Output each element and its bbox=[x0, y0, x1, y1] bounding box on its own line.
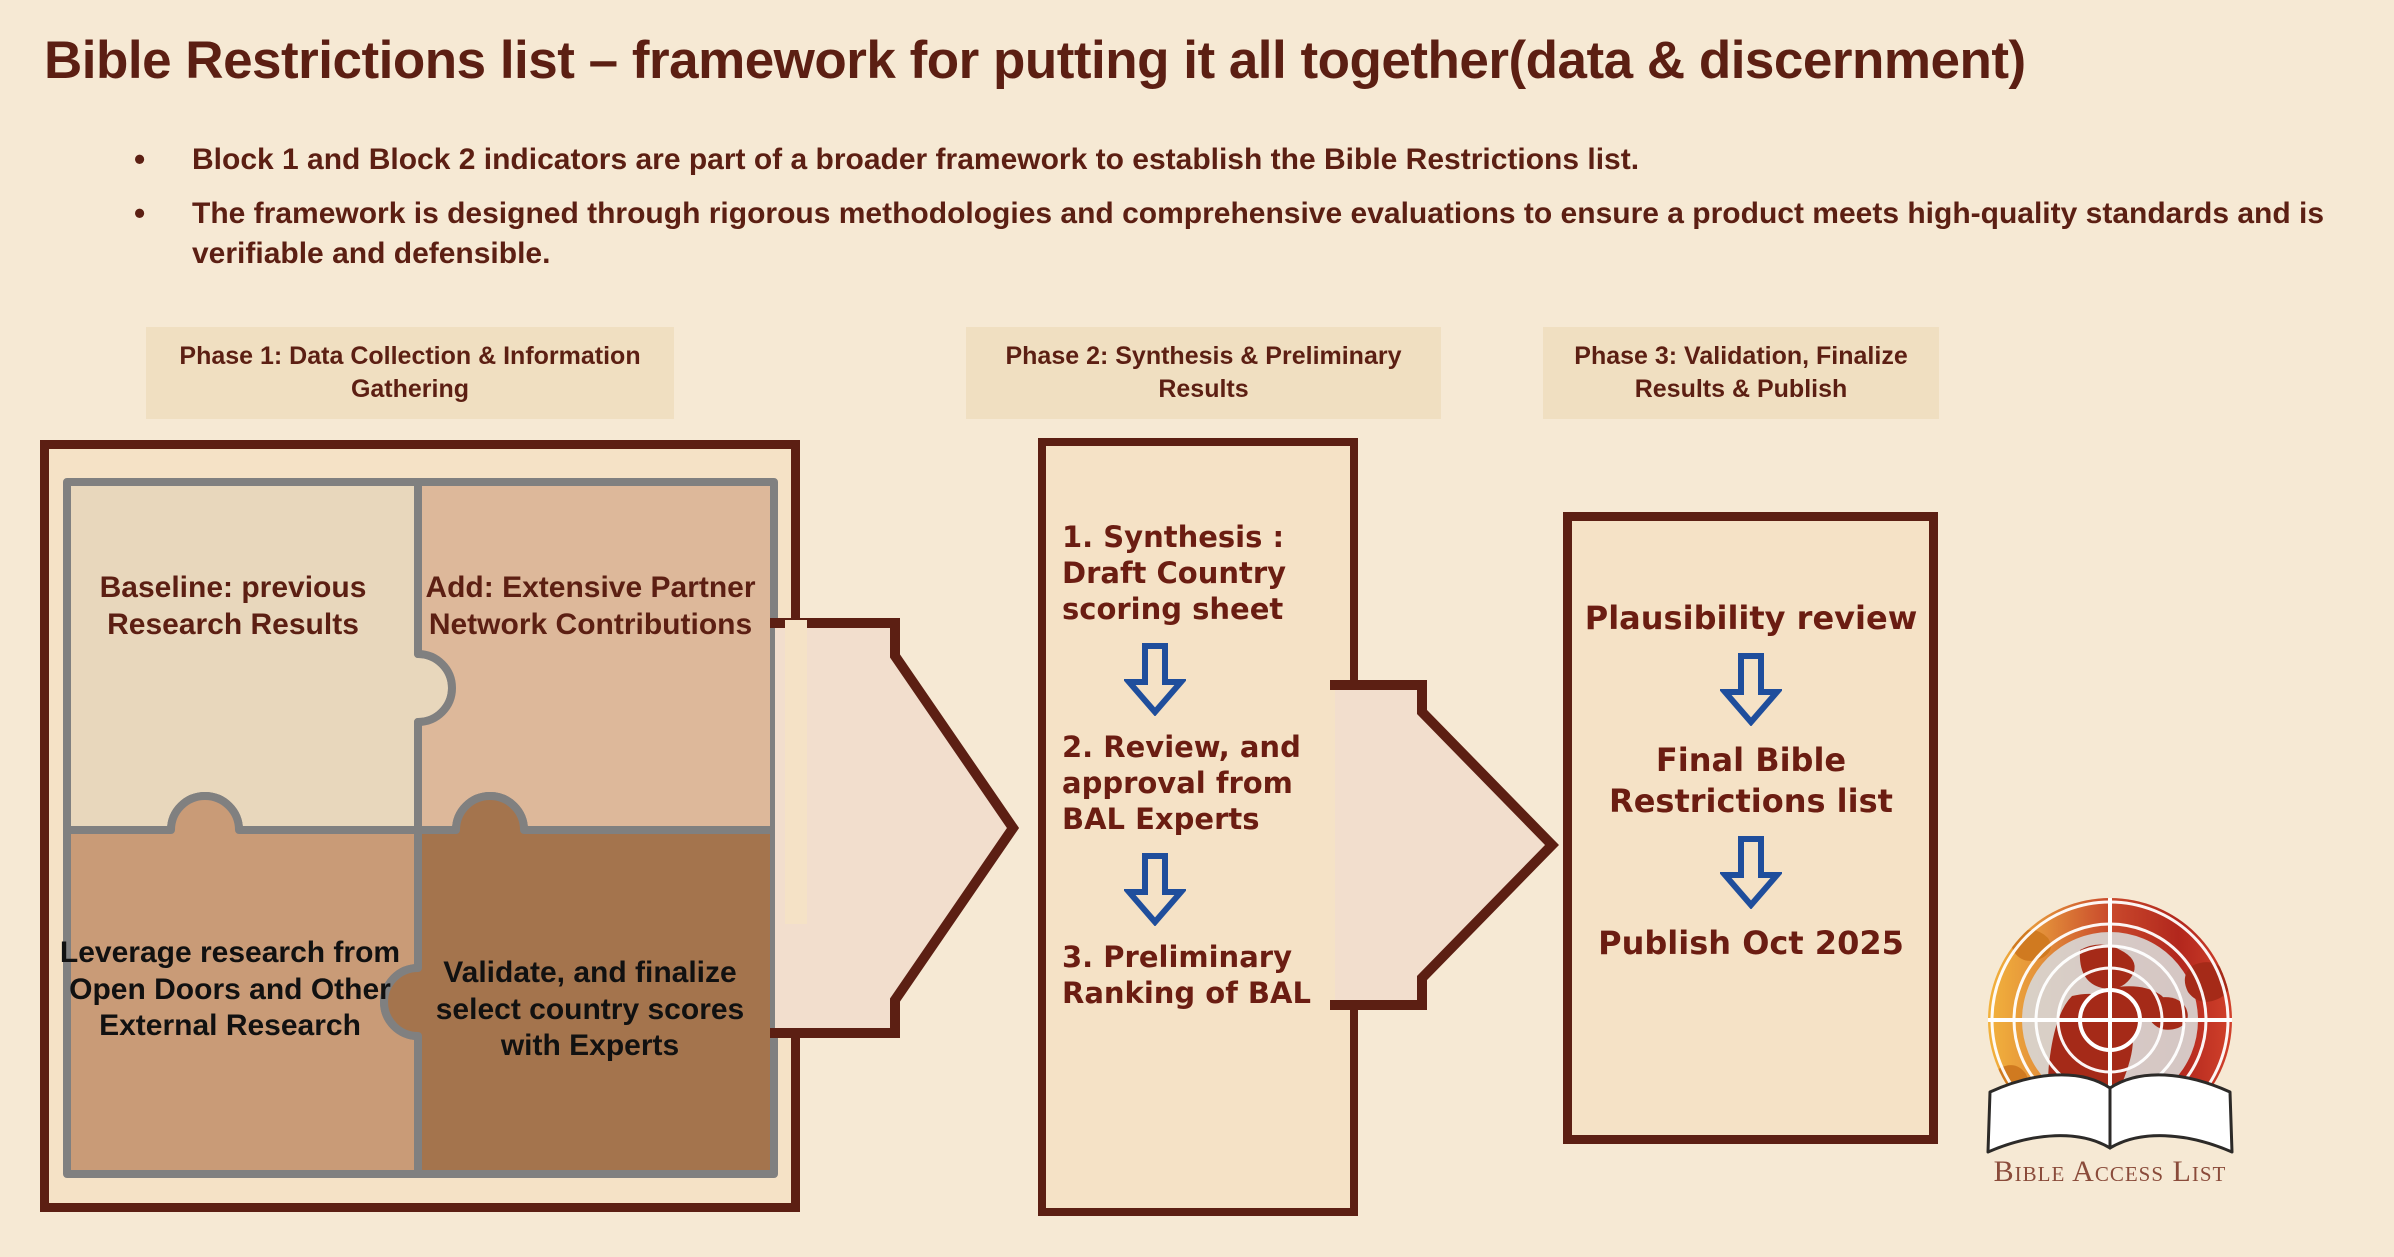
right-block-arrow-icon bbox=[770, 618, 1020, 1038]
list-item: • Block 1 and Block 2 indicators are par… bbox=[118, 140, 2348, 180]
phase-3-step-1: Plausibility review bbox=[1575, 598, 1927, 638]
phase-3-steps: Plausibility review Final Bible Restrict… bbox=[1575, 598, 1927, 963]
puzzle-piece-bottom-right bbox=[384, 796, 774, 1174]
phase-3-step-2: Final Bible Restrictions list bbox=[1575, 740, 1927, 821]
phase-3-header: Phase 3: Validation, Finalize Results & … bbox=[1543, 327, 1939, 419]
down-arrow-icon bbox=[1575, 835, 1927, 909]
phase-1-header: Phase 1: Data Collection & Information G… bbox=[146, 327, 674, 419]
bullet-text: The framework is designed through rigoro… bbox=[192, 197, 2324, 270]
right-block-arrow-icon bbox=[1330, 680, 1560, 1010]
arrow-shaft-joiner bbox=[785, 620, 807, 924]
down-arrow-icon bbox=[1062, 852, 1332, 926]
phase-2-steps: 1. Synthesis : Draft Country scoring she… bbox=[1062, 520, 1332, 1012]
puzzle-graphic bbox=[63, 478, 778, 1178]
page-title: Bible Restrictions list – framework for … bbox=[44, 30, 2364, 91]
slide-canvas: Bible Restrictions list – framework for … bbox=[0, 0, 2394, 1257]
bullet-list: • Block 1 and Block 2 indicators are par… bbox=[118, 140, 2348, 289]
phase-2-step-1: 1. Synthesis : Draft Country scoring she… bbox=[1062, 520, 1332, 628]
phase-2-step-2: 2. Review, and approval from BAL Experts bbox=[1062, 730, 1332, 838]
bullet-text: Block 1 and Block 2 indicators are part … bbox=[192, 143, 1639, 176]
puzzle-piece-bottom-left bbox=[67, 796, 418, 1174]
logo-wordmark: Bible Access List bbox=[1950, 1155, 2270, 1189]
down-arrow-icon bbox=[1062, 642, 1332, 716]
puzzle-piece-top-left bbox=[67, 482, 452, 830]
phase-2-header: Phase 2: Synthesis & Preliminary Results bbox=[966, 327, 1441, 419]
bullet-marker-icon: • bbox=[134, 192, 145, 235]
down-arrow-icon bbox=[1575, 652, 1927, 726]
list-item: • The framework is designed through rigo… bbox=[118, 194, 2348, 274]
puzzle-piece-top-right bbox=[418, 482, 774, 830]
phase-2-step-3: 3. Preliminary Ranking of BAL bbox=[1062, 940, 1332, 1012]
phase-3-step-3: Publish Oct 2025 bbox=[1575, 923, 1927, 963]
globe-crosshair-open-book-logo-icon bbox=[1960, 880, 2260, 1180]
bullet-marker-icon: • bbox=[134, 138, 145, 181]
